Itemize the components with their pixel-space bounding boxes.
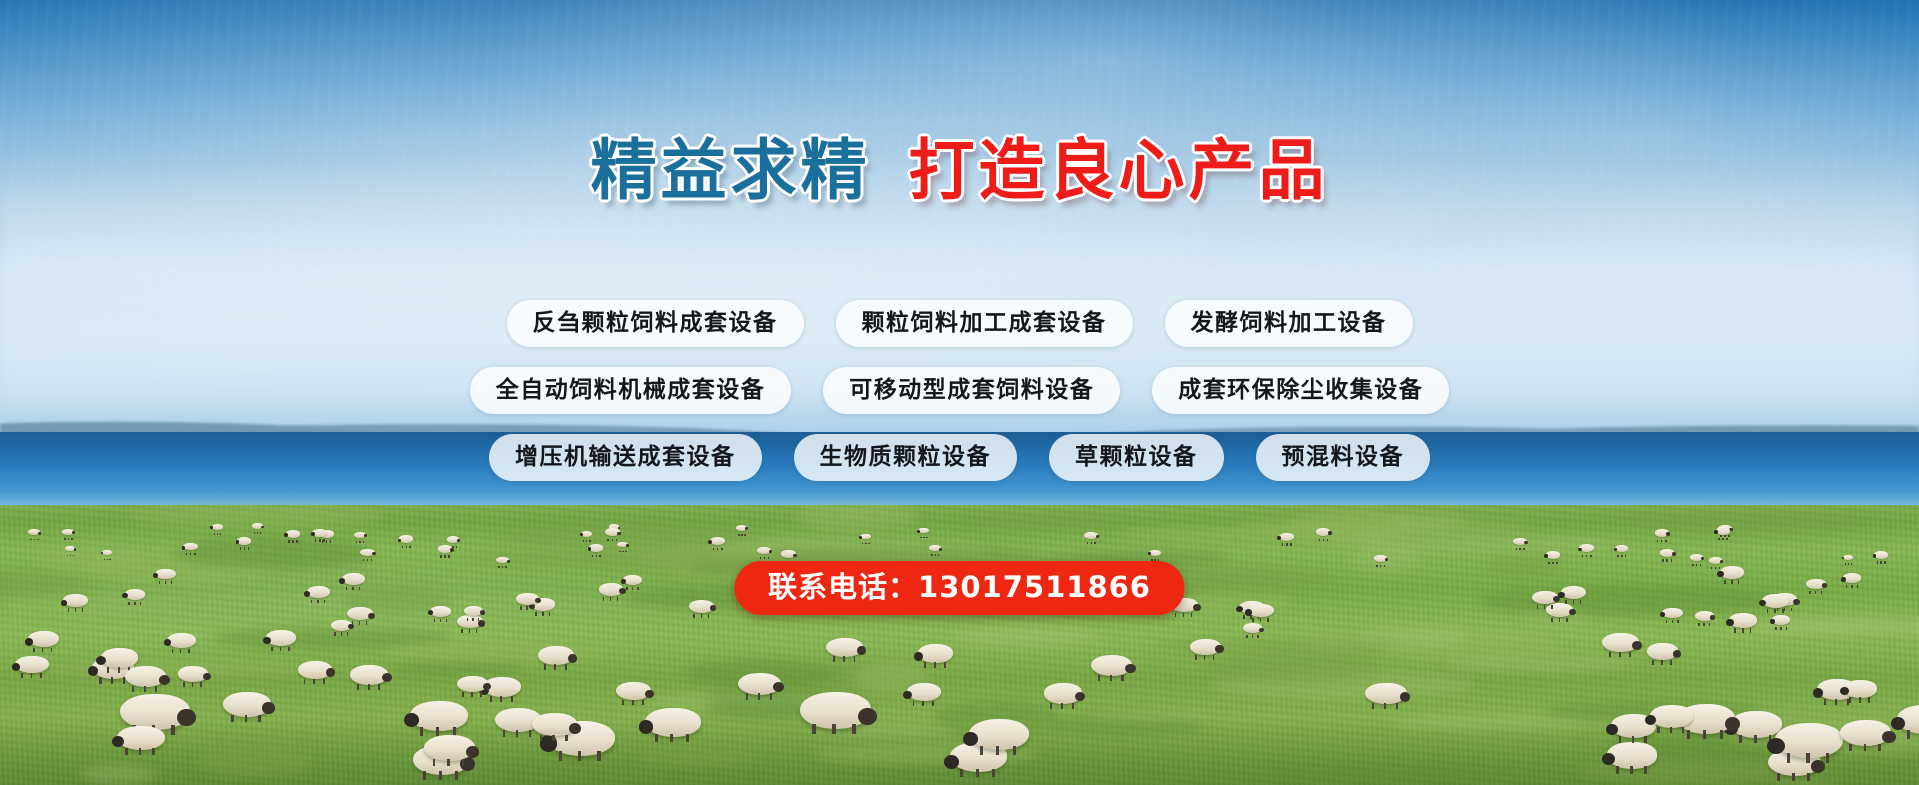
sheep-leg xyxy=(1807,773,1810,781)
grass-patch xyxy=(950,625,1102,647)
sheep-head xyxy=(457,539,460,542)
sheep-leg xyxy=(923,537,925,539)
sheep-leg xyxy=(1098,675,1100,681)
contact-phone-badge[interactable]: 联系电话：13017511866 xyxy=(734,561,1185,615)
sheep xyxy=(1662,608,1683,619)
sheep-head xyxy=(1632,641,1641,650)
sheep xyxy=(117,726,165,751)
sheep-leg xyxy=(1784,608,1786,612)
sheep-leg xyxy=(1709,623,1711,626)
sheep xyxy=(736,525,747,531)
sheep-body xyxy=(1762,594,1789,608)
sheep-leg xyxy=(741,534,743,536)
sheep-leg xyxy=(352,587,354,591)
sheep-leg xyxy=(118,667,120,673)
sheep-body xyxy=(1843,555,1853,560)
sheep-leg xyxy=(1376,565,1378,567)
grass-patch xyxy=(395,662,525,673)
sheep-head xyxy=(619,588,625,594)
sheep-leg xyxy=(231,715,233,722)
sheep-leg xyxy=(194,553,196,555)
sheep-body xyxy=(1279,533,1294,541)
sheep-leg xyxy=(40,673,42,678)
sheep-leg xyxy=(21,673,23,678)
sheep-leg xyxy=(1670,727,1672,734)
sheep-head xyxy=(61,600,67,606)
sheep-leg xyxy=(833,656,835,662)
product-pill[interactable]: 生物质颗粒设备 xyxy=(794,434,1018,481)
sheep xyxy=(424,735,475,762)
sheep xyxy=(1190,639,1221,655)
sheep-leg xyxy=(934,662,936,667)
sheep-leg xyxy=(642,700,644,705)
sheep-leg xyxy=(68,608,70,612)
sheep-leg xyxy=(526,606,528,609)
sheep-leg xyxy=(1590,555,1592,557)
sheep-leg xyxy=(542,612,544,616)
sheep-leg xyxy=(356,541,358,543)
sheep-leg xyxy=(931,554,933,556)
sheep xyxy=(410,701,468,731)
sheep-leg xyxy=(920,537,922,539)
sheep xyxy=(354,532,366,538)
sheep xyxy=(538,646,575,665)
sheep-leg xyxy=(938,554,940,556)
sheep-leg xyxy=(296,540,298,542)
sheep-leg xyxy=(1846,585,1848,588)
sheep-leg xyxy=(200,682,202,687)
sheep-head xyxy=(483,683,491,690)
sheep-leg xyxy=(469,629,471,633)
sheep-head xyxy=(568,654,578,663)
sheep-leg xyxy=(260,532,262,534)
sheep-leg xyxy=(448,555,450,557)
sheep-head xyxy=(159,675,170,685)
grass-patch xyxy=(1614,511,1873,532)
sheep-leg xyxy=(152,748,154,755)
sheep xyxy=(266,630,297,646)
sheep xyxy=(929,545,941,551)
sheep xyxy=(617,542,628,547)
sheep-head xyxy=(311,532,315,536)
sheep-leg xyxy=(744,534,746,536)
product-row-1: 反刍颗粒饲料成套设备 颗粒饲料加工成套设备 发酵饲料加工设备 xyxy=(507,300,1413,347)
sheep xyxy=(1374,555,1387,562)
sheep xyxy=(1602,633,1638,652)
sheep-head xyxy=(580,533,583,536)
product-pill[interactable]: 可移动型成套饲料设备 xyxy=(823,367,1120,414)
sheep-leg xyxy=(288,540,290,542)
sheep-head xyxy=(1793,599,1800,605)
sheep-head xyxy=(1873,554,1877,557)
sheep-leg xyxy=(1826,753,1830,763)
sheep-head xyxy=(535,598,541,603)
sheep-leg xyxy=(444,555,446,557)
sheep-leg xyxy=(498,566,500,568)
sheep xyxy=(1243,623,1262,633)
sheep-body xyxy=(212,524,223,530)
sheep-leg xyxy=(738,534,740,536)
sheep-leg xyxy=(1327,539,1329,541)
product-pill[interactable]: 成套环保除尘收集设备 xyxy=(1152,367,1449,414)
sheep-leg xyxy=(1666,559,1668,561)
sheep-leg xyxy=(434,619,436,622)
sheep-body xyxy=(907,683,941,701)
sheep-head xyxy=(1717,571,1723,577)
sheep-leg xyxy=(713,548,715,550)
product-pill[interactable]: 反刍颗粒饲料成套设备 xyxy=(507,300,804,347)
sheep-leg xyxy=(1868,697,1870,702)
sheep xyxy=(1647,643,1679,660)
sheep-leg xyxy=(596,555,598,557)
sheep-leg xyxy=(472,618,474,621)
sheep-leg xyxy=(1380,565,1382,567)
sheep xyxy=(212,524,223,530)
sheep-leg xyxy=(1267,618,1269,622)
sheep xyxy=(516,593,539,605)
sheep-leg xyxy=(323,539,325,541)
sheep-leg xyxy=(1672,620,1674,623)
grass-patch xyxy=(960,515,1123,531)
sheep-leg xyxy=(1774,609,1776,613)
sheep-leg xyxy=(1252,618,1254,622)
sheep-body xyxy=(1650,705,1694,728)
sheep xyxy=(65,546,75,551)
sheep-leg xyxy=(406,546,408,548)
sheep-leg xyxy=(1703,730,1706,739)
sheep-leg xyxy=(1857,585,1859,588)
sheep-leg xyxy=(980,746,983,755)
sheep-head xyxy=(944,755,959,769)
sheep-leg xyxy=(1880,561,1882,563)
sheep-body xyxy=(1874,551,1888,558)
sheep-head xyxy=(304,591,310,597)
sheep xyxy=(757,547,771,554)
sheep-leg xyxy=(1671,559,1673,561)
sheep xyxy=(689,600,714,613)
sheep-head xyxy=(859,536,862,539)
sheep-head xyxy=(1841,577,1846,581)
sheep xyxy=(826,638,863,657)
sheep-head xyxy=(621,579,626,584)
sheep-leg xyxy=(1767,609,1769,613)
sheep-leg xyxy=(1698,623,1700,626)
sheep-leg xyxy=(607,539,609,541)
sheep-head xyxy=(1811,760,1825,773)
sheep-leg xyxy=(446,619,448,622)
sheep-leg xyxy=(64,538,66,540)
sheep-leg xyxy=(1195,655,1197,660)
sheep-leg xyxy=(832,724,836,735)
sheep-leg xyxy=(812,724,816,735)
sheep-leg xyxy=(183,682,185,687)
sheep xyxy=(907,683,941,701)
sheep-head xyxy=(1813,688,1823,698)
product-pill[interactable]: 颗粒饲料加工成套设备 xyxy=(836,300,1133,347)
sheep-leg xyxy=(500,696,502,702)
sheep-leg xyxy=(402,546,404,548)
sheep-leg xyxy=(1728,535,1730,537)
sheep-leg xyxy=(42,648,44,653)
sheep xyxy=(1044,683,1083,703)
sheep-leg xyxy=(471,692,473,697)
sheep-leg xyxy=(1573,600,1575,604)
sheep-head xyxy=(1672,552,1676,556)
sheep xyxy=(781,550,795,558)
sheep xyxy=(125,666,166,687)
sheep-head xyxy=(1701,557,1704,560)
sheep xyxy=(599,583,624,596)
sheep-leg xyxy=(1724,580,1726,584)
sheep xyxy=(1532,591,1557,604)
sheep-leg xyxy=(1213,655,1215,660)
sheep xyxy=(464,606,484,616)
sheep xyxy=(457,615,483,628)
sheep xyxy=(581,531,592,537)
product-pill[interactable]: 预混料设备 xyxy=(1256,434,1431,481)
sheep-leg xyxy=(315,539,317,541)
sheep-leg xyxy=(1537,605,1539,609)
sheep-leg xyxy=(357,684,359,690)
sheep-leg xyxy=(171,725,175,736)
sheep-leg xyxy=(693,614,695,618)
sheep-leg xyxy=(1087,542,1089,544)
sheep xyxy=(1806,579,1826,589)
sheep-leg xyxy=(626,587,628,590)
sheep-leg xyxy=(330,540,332,542)
page-title: 精益求精打造良心产品 xyxy=(0,138,1919,204)
sheep-leg xyxy=(139,748,141,755)
sheep-leg xyxy=(1252,635,1254,638)
sheep-head xyxy=(569,723,581,734)
sheep-leg xyxy=(440,555,442,557)
sheep xyxy=(399,535,413,542)
sheep-body xyxy=(102,550,112,555)
sheep xyxy=(102,550,112,555)
sheep-leg xyxy=(1815,591,1817,594)
sheep-head xyxy=(1259,628,1264,633)
sheep-leg xyxy=(288,647,290,652)
sheep-leg xyxy=(1286,543,1288,545)
sheep xyxy=(447,536,459,542)
sheep xyxy=(1248,604,1274,618)
sheep-leg xyxy=(843,656,845,662)
sheep-body xyxy=(589,544,603,551)
sheep-leg xyxy=(1738,580,1740,584)
sheep xyxy=(918,644,953,662)
sheep-leg xyxy=(1775,627,1777,630)
sheep-head xyxy=(639,720,654,733)
sheep-leg xyxy=(1851,563,1853,565)
sheep-body xyxy=(307,586,330,598)
sheep xyxy=(1660,549,1675,557)
sheep-leg xyxy=(75,608,77,612)
sheep-head xyxy=(38,532,41,535)
sheep xyxy=(1279,533,1294,541)
headline-part-primary: 精益求精 xyxy=(591,132,871,209)
sheep-head xyxy=(917,530,920,533)
sheep xyxy=(178,666,208,682)
sheep-leg xyxy=(502,566,504,568)
sheep-leg xyxy=(70,555,72,557)
sheep-leg xyxy=(292,540,294,542)
sheep-leg xyxy=(935,554,937,556)
grass-patch xyxy=(1208,651,1379,684)
sheep-head xyxy=(1770,619,1775,623)
sheep-leg xyxy=(1632,736,1634,743)
sheep-leg xyxy=(51,648,53,653)
sheep-leg xyxy=(768,557,770,559)
sheep xyxy=(710,537,726,545)
sheep xyxy=(167,633,196,648)
sheep xyxy=(1897,705,1919,733)
sheep-leg xyxy=(33,648,35,653)
product-pill[interactable]: 发酵饲料加工设备 xyxy=(1165,300,1413,347)
sheep-leg xyxy=(1726,538,1728,540)
sheep-head xyxy=(263,637,271,644)
sheep-body xyxy=(15,656,49,673)
sheep-leg xyxy=(535,612,537,616)
sheep-leg xyxy=(760,557,762,559)
sheep-leg xyxy=(480,692,482,697)
sheep-body xyxy=(342,573,365,585)
sheep xyxy=(1546,551,1560,559)
sheep xyxy=(1709,557,1723,564)
sheep-head xyxy=(914,652,923,660)
sheep-leg xyxy=(326,540,328,542)
sheep-leg xyxy=(159,581,161,584)
sheep-leg xyxy=(439,771,442,780)
sheep-leg xyxy=(313,679,315,684)
sheep xyxy=(1149,550,1161,556)
sheep xyxy=(623,575,643,585)
sheep-head xyxy=(1245,609,1252,615)
sheep-leg xyxy=(1739,735,1742,743)
sheep-leg xyxy=(341,632,343,635)
sheep xyxy=(430,606,451,617)
sheep-leg xyxy=(1559,618,1561,622)
sheep xyxy=(1772,615,1791,625)
sheep-leg xyxy=(1319,539,1321,541)
sheep-leg xyxy=(1754,735,1757,743)
sheep-leg xyxy=(1877,561,1879,563)
sheep xyxy=(63,594,88,607)
grass-patch xyxy=(1773,777,1839,785)
sheep-leg xyxy=(109,559,111,561)
sheep-leg xyxy=(932,701,934,706)
sheep-leg xyxy=(1061,703,1063,709)
sheep-leg xyxy=(619,551,621,553)
sheep xyxy=(15,656,49,673)
sheep-leg xyxy=(359,621,361,625)
sheep-leg xyxy=(368,684,370,690)
sheep-leg xyxy=(104,559,106,561)
sheep-leg xyxy=(420,727,423,736)
sheep-head xyxy=(1726,619,1733,626)
product-row-3: 增压机输送成套设备 生物质颗粒设备 草颗粒设备 预混料设备 xyxy=(489,434,1430,481)
sheep xyxy=(331,620,352,631)
grass-patch xyxy=(770,547,1047,561)
sheep-leg xyxy=(770,693,772,699)
sheep-head xyxy=(326,668,335,676)
sheep-leg xyxy=(248,547,250,549)
sheep xyxy=(298,661,332,679)
sheep xyxy=(1695,611,1714,621)
sheep-leg xyxy=(599,555,601,557)
sheep-leg xyxy=(188,649,190,653)
sheep-head xyxy=(1882,731,1895,743)
sheep xyxy=(1084,532,1098,539)
sheep xyxy=(1843,555,1853,560)
sheep-leg xyxy=(852,724,856,735)
sheep-leg xyxy=(447,759,450,767)
product-pill[interactable]: 草颗粒设备 xyxy=(1049,434,1224,481)
sheep-leg xyxy=(107,559,109,561)
sheep-body xyxy=(183,543,198,551)
sheep xyxy=(645,708,701,737)
sheep-head xyxy=(450,548,454,551)
sheep-leg xyxy=(1630,766,1633,774)
sheep-leg xyxy=(461,629,463,633)
sheep-leg xyxy=(544,664,546,670)
sheep xyxy=(1365,683,1407,705)
sheep-leg xyxy=(565,735,567,742)
sheep-leg xyxy=(1072,703,1074,709)
product-pill[interactable]: 全自动饲料机械成套设备 xyxy=(470,367,792,414)
sheep-leg xyxy=(1696,564,1698,566)
grass-patch xyxy=(198,745,315,778)
sheep-leg xyxy=(505,566,507,568)
sheep-leg xyxy=(1621,555,1623,557)
sheep-leg xyxy=(99,677,101,683)
sheep-leg xyxy=(565,664,567,670)
sheep-leg xyxy=(1191,613,1193,617)
sheep-leg xyxy=(637,587,639,590)
sheep xyxy=(800,692,871,729)
sheep-leg xyxy=(1384,565,1386,567)
sheep xyxy=(589,544,603,551)
sheep-leg xyxy=(1657,727,1659,734)
sheep-head xyxy=(339,578,345,584)
sheep-head xyxy=(1524,541,1527,544)
sheep-head xyxy=(1148,552,1151,555)
headline-part-accent: 打造良心产品 xyxy=(909,132,1329,209)
sheep-leg xyxy=(1845,563,1847,565)
sheep-body xyxy=(430,606,451,617)
product-category-list: 反刍颗粒饲料成套设备 颗粒饲料加工成套设备 发酵饲料加工设备 全自动饲料机械成套… xyxy=(0,300,1919,481)
sheep-leg xyxy=(254,532,256,534)
sheep-head xyxy=(478,620,485,626)
sheep-leg xyxy=(583,540,585,542)
sheep-leg xyxy=(323,679,325,684)
sheep xyxy=(350,665,388,685)
sheep-head xyxy=(182,546,186,550)
sheep xyxy=(237,537,251,544)
sheep-head xyxy=(236,540,240,543)
sheep-leg xyxy=(462,759,465,767)
sheep-leg xyxy=(455,771,458,780)
sheep-leg xyxy=(1609,652,1611,658)
sheep xyxy=(347,607,372,620)
sheep xyxy=(1316,528,1330,535)
sheep-body xyxy=(918,644,953,662)
sheep-leg xyxy=(1884,561,1886,563)
sheep-leg xyxy=(589,540,591,542)
sheep-leg xyxy=(559,751,563,761)
sheep xyxy=(1840,720,1891,747)
sheep-leg xyxy=(1246,635,1248,638)
product-pill[interactable]: 增压机输送成套设备 xyxy=(489,434,762,481)
